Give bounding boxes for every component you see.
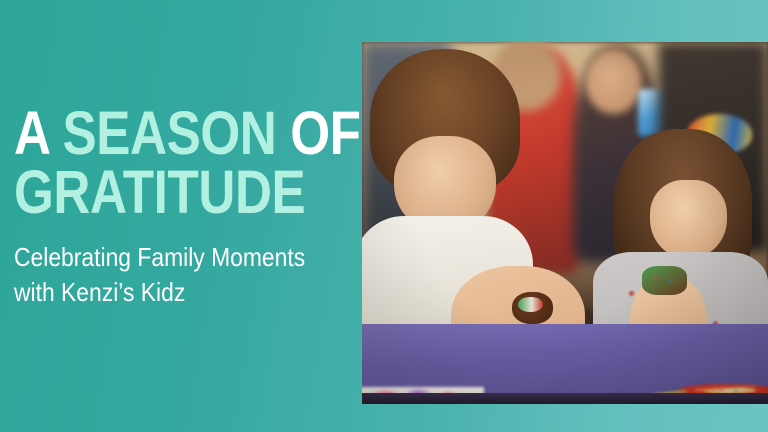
photo-scene (362, 42, 768, 404)
photo-vignette (362, 42, 768, 404)
headline-word-of: OF (290, 99, 360, 167)
headline-word-season: SEASON (63, 99, 277, 167)
subtitle-line-2: with Kenzi’s Kidz (14, 275, 322, 310)
page-title: A SEASON OF GRATITUDE (14, 104, 308, 221)
subtitle: Celebrating Family Moments with Kenzi’s … (14, 240, 322, 311)
subtitle-line-1: Celebrating Family Moments (14, 240, 322, 275)
headline-line-1: A SEASON OF (14, 99, 361, 167)
headline-word-a: A (14, 99, 49, 167)
headline-word-gratitude: GRATITUDE (14, 163, 308, 222)
text-block: A SEASON OF GRATITUDE Celebrating Family… (14, 104, 364, 311)
promo-banner: A SEASON OF GRATITUDE Celebrating Family… (0, 0, 768, 432)
hero-photo (362, 42, 768, 404)
